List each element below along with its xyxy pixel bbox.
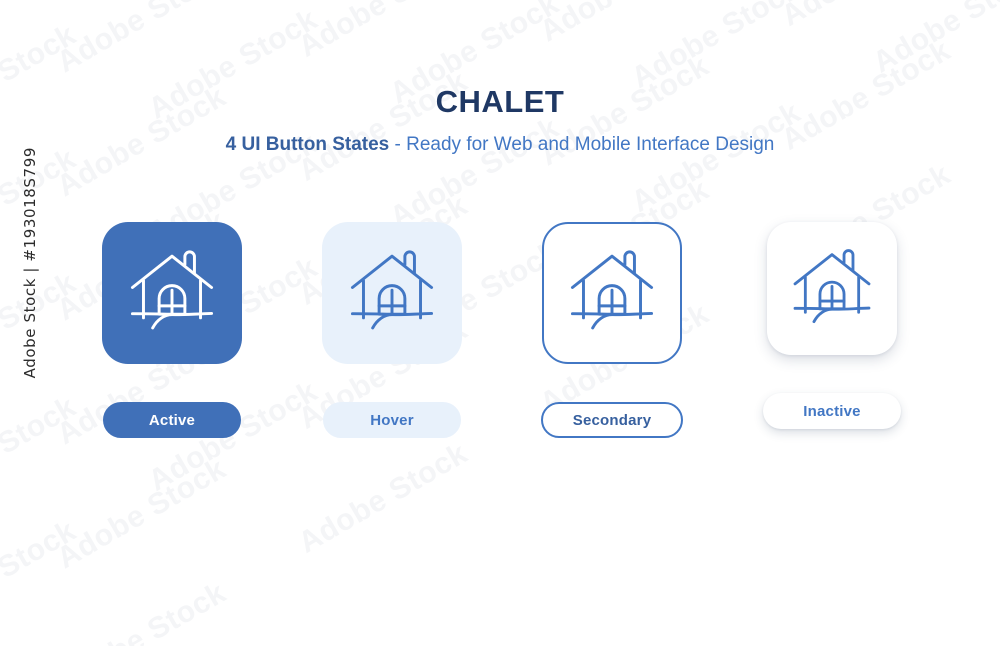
chalet-icon — [789, 246, 875, 332]
icon-tile-active[interactable] — [102, 222, 242, 364]
icon-tile-secondary[interactable] — [542, 222, 682, 364]
state-column-inactive: Inactive — [722, 222, 942, 438]
page-subtitle: 4 UI Button States - Ready for Web and M… — [0, 134, 1000, 156]
state-button-inactive[interactable]: Inactive — [763, 393, 901, 429]
chalet-icon — [126, 247, 218, 339]
state-column-hover: Hover — [282, 222, 502, 438]
poster-stage: Adobe Stock | #193018S799 CHALET 4 UI Bu… — [0, 0, 1000, 526]
icon-tile-hover[interactable] — [322, 222, 462, 364]
state-button-active[interactable]: Active — [103, 402, 241, 438]
subtitle-strong: 4 UI Button States — [226, 134, 390, 155]
subtitle-rest: - Ready for Web and Mobile Interface Des… — [389, 134, 774, 155]
page-title: CHALET — [0, 84, 1000, 120]
chalet-icon — [566, 247, 658, 339]
icon-tile-inactive[interactable] — [767, 222, 897, 355]
state-column-secondary: Secondary — [502, 222, 722, 438]
button-states-row: Active Hover — [62, 222, 942, 438]
state-button-secondary[interactable]: Secondary — [541, 402, 683, 438]
chalet-icon — [346, 247, 438, 339]
state-column-active: Active — [62, 222, 282, 438]
state-button-hover[interactable]: Hover — [323, 402, 461, 438]
chalet-hill-curve — [593, 315, 612, 328]
stock-credit-text: Adobe Stock | #193018S799 — [21, 147, 39, 378]
stock-credit: Adobe Stock | #193018S799 — [10, 0, 50, 526]
chalet-hill-curve — [153, 315, 172, 328]
chalet-hill-curve — [373, 315, 392, 328]
chalet-hill-curve — [814, 309, 832, 322]
